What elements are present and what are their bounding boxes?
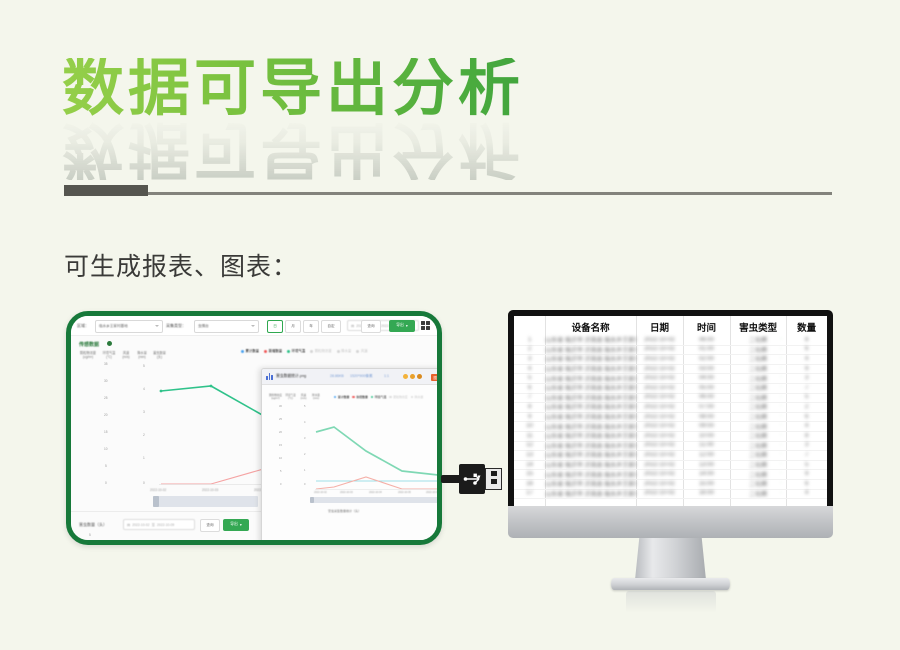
inner-y2-tick-0: 0 [304,483,305,486]
inner-y-tick-15: 15 [279,444,282,447]
zoom-slider-thumb[interactable] [153,496,159,507]
th-quantity: 数量 [786,320,827,334]
td-date: 2022-10-02 [636,442,683,448]
td-date: 2022-10-02 [636,337,683,343]
td-index: 5 [514,375,545,381]
info-dot-icon [107,341,112,346]
th-device: 设备名称 [545,320,636,334]
image-preview-window[interactable]: 害虫数据统计.png 28.86KB 1520*900像素 1:1 图片另存 累… [261,368,437,540]
td-date: 2022-10-02 [636,404,683,410]
td-time: 13:00 [683,462,730,468]
inner-x-tick-3: 2022-10-05 [398,491,411,494]
td-quantity: 9 [786,471,827,477]
td-time: 11:00 [683,442,730,448]
td-date: 2022-10-02 [636,366,683,372]
segment-custom[interactable]: 自定 [321,320,341,333]
row-status-dot: · [780,413,782,419]
x-tick-1: 2022-10-03 [202,488,218,492]
inner-zoom-thumb[interactable] [310,497,314,503]
series-point [210,385,213,388]
td-quantity: 4 [786,356,827,362]
td-date: 2022-10-02 [636,385,683,391]
inner-y-group-0: 颗粒物浓度 (ug/m³) [268,394,283,400]
td-quantity: 6 [786,414,827,420]
section-subtitle: 可生成报表、图表： [64,247,298,283]
td-time: 04:00 [683,375,730,381]
image-preview-titlebar: 害虫数据统计.png 28.86KB 1520*900像素 1:1 图片另存 [262,369,437,385]
td-device: 山东省 临沂市 沂南县 临水乡王家村基地 [545,335,636,344]
y-tick-10: 10 [104,447,108,451]
td-device: 山东省 临沂市 沂南县 临水乡王家村基地 [545,470,636,479]
td-pest-type: 二化螟 [730,383,786,392]
row-status-dot: · [780,355,782,361]
image-ratio[interactable]: 1:1 [384,374,389,378]
window-controls[interactable] [403,374,422,379]
image-dimensions[interactable]: 1520*900像素 [350,374,373,379]
close-dot[interactable] [417,374,422,379]
bottom-date-end: 2022-10-09 [157,523,174,527]
td-quantity: 8 [786,337,827,343]
td-index: 16 [514,481,545,487]
inner-series-temperature [316,427,437,475]
data-table: 设备名称 日期 时间 害虫类型 数量 1山东省 临沂市 沂南县 临水乡王家村基地… [514,316,827,506]
row-status-dot: · [780,346,782,352]
table-row-divider [514,498,827,499]
inner-chart-caption: 害虫采集数量统计（头） [328,509,361,513]
monitor-stand-base [611,578,730,590]
monitor-chin [508,506,833,538]
td-device: 山东省 临沂市 沂南县 临水乡王家村基地 [545,460,636,469]
inner-y-group-2: 风速 (m/s) [298,394,309,400]
td-device: 山东省 临沂市 沂南县 临水乡王家村基地 [545,489,636,498]
td-time: 03:00 [683,366,730,372]
td-quantity: 2 [786,404,827,410]
row-status-dot: · [780,461,782,467]
td-quantity: 3 [786,375,827,381]
td-index: 13 [514,452,545,458]
y-tick-20: 20 [104,413,108,417]
td-quantity: 7 [786,452,827,458]
td-device: 山东省 临沂市 沂南县 临水乡王家村基地 [545,354,636,363]
usb-connector [441,458,503,500]
inner-y2-tick-4: 4 [304,421,305,424]
td-date: 2022-10-02 [636,462,683,468]
export-button[interactable]: 导出 ▾ [389,320,415,332]
td-pest-type: 二化螟 [730,335,786,344]
td-device: 山东省 临沂市 沂南县 临水乡王家村基地 [545,402,636,411]
inner-y-tick-5: 5 [280,470,281,473]
td-quantity: 9 [786,366,827,372]
row-status-dot: · [780,470,782,476]
td-date: 2022-10-02 [636,414,683,420]
td-device: 山东省 临沂市 沂南县 临水乡王家村基地 [545,374,636,383]
row-status-dot: · [780,403,782,409]
td-index: 7 [514,394,545,400]
inner-x-tick-4: 2022-10-06 [426,491,437,494]
td-time: 10:00 [683,433,730,439]
y2-tick-3: 3 [143,410,145,414]
td-pest-type: 二化螟 [730,354,786,363]
td-date: 2022-10-02 [636,375,683,381]
divider-accent [64,185,148,196]
legend-item-5[interactable]: 风速 [356,348,367,353]
td-time: 12:00 [683,452,730,458]
y-tick-25: 25 [104,396,108,400]
y-group-2: 风速 (m/s) [119,351,133,359]
td-quantity: 4 [786,490,827,496]
td-pest-type: 二化螟 [730,422,786,431]
y-tick-30: 30 [104,379,108,383]
bottom-date-separator: 至 [152,522,155,527]
bottom-date-start: 2022-10-02 [132,523,149,527]
bottom-label: 害虫数量（头） [79,522,107,528]
td-pest-type: 二化螟 [730,460,786,469]
y2-tick-4: 4 [143,387,145,391]
td-device: 山东省 临沂市 沂南县 临水乡王家村基地 [545,412,636,421]
th-time: 时间 [683,320,730,334]
page-title: 数据可导出分析 [62,58,852,120]
row-status-dot: · [780,394,782,400]
y2-tick-0: 0 [143,481,145,485]
inner-zoom-slider[interactable] [310,497,437,503]
td-quantity: 8 [786,433,827,439]
area-label: 区域： [77,323,89,329]
inner-y-tick-30: 30 [279,405,282,408]
bottom-y-tick-5: 5 [89,533,91,537]
row-status-dot: · [780,442,782,448]
row-status-dot: · [780,490,782,496]
td-index: 8 [514,404,545,410]
inner-y-group-1: 环境气温 (°C) [284,394,297,400]
td-index: 10 [514,423,545,429]
td-time: 15:00 [683,481,730,487]
x-tick-0: 2022-10-02 [150,488,166,492]
td-index: 15 [514,471,545,477]
td-pest-type: 二化螟 [730,441,786,450]
th-date: 日期 [636,320,683,334]
series-point [160,390,163,393]
image-file-name: 害虫数据统计.png [276,374,306,379]
usb-trident-icon [463,469,483,489]
tablet-toolbar: 区域： 临水乡王家村基地 采集类型： 虫情台 日 月 年 自定 ▤ 2022-1… [71,316,437,336]
td-device: 山东省 临沂市 沂南县 临水乡王家村基地 [545,393,636,402]
td-pest-type: 二化螟 [730,431,786,440]
td-pest-type: 二化螟 [730,393,786,402]
y-tick-5: 5 [105,464,107,468]
inner-y-tick-0: 0 [280,483,281,486]
row-status-dot: · [780,480,782,486]
page-title-reflection: 数据可导出分析 [62,118,524,180]
maximize-dot[interactable] [410,374,415,379]
inner-y2-tick-3: 3 [304,437,305,440]
y2-tick-2: 2 [143,433,145,437]
bottom-date-range[interactable]: ▤ 2022-10-02 至 2022-10-09 [123,519,195,530]
y-group-3: 降水量 (mm) [134,351,150,359]
desktop-monitor: 设备名称 日期 时间 害虫类型 数量 1山东省 临沂市 沂南县 临水乡王家村基地… [508,310,833,600]
td-index: 1 [514,337,545,343]
td-device: 山东省 临沂市 沂南县 临水乡王家村基地 [545,383,636,392]
y-tick-0: 0 [105,481,107,485]
td-index: 17 [514,490,545,496]
type-select[interactable]: 虫情台 [194,320,259,333]
td-index: 9 [514,414,545,420]
td-device: 山东省 临沂市 沂南县 临水乡王家村基地 [545,345,636,354]
td-pest-type: 二化螟 [730,470,786,479]
minimize-dot[interactable] [403,374,408,379]
segment-year[interactable]: 年 [303,320,319,333]
row-status-dot: · [780,365,782,371]
td-device: 山东省 临沂市 沂南县 临水乡王家村基地 [545,450,636,459]
td-date: 2022-10-02 [636,423,683,429]
legend-item-2[interactable]: 环境气温 [287,348,305,353]
td-time: 14:00 [683,471,730,477]
inner-x-tick-2: 2022-10-04 [369,491,382,494]
inner-x-tick-0: 2022-10-02 [314,491,327,494]
inner-y-tick-20: 20 [279,431,282,434]
td-quantity: 7 [786,385,827,391]
td-pest-type: 二化螟 [730,402,786,411]
grid-view-icon[interactable] [421,321,430,330]
bottom-export-label: 导出 [230,522,238,527]
row-status-dot: · [780,422,782,428]
td-time: 06:00 [683,394,730,400]
td-quantity: 5 [786,462,827,468]
type-label: 采集类型： [166,323,186,329]
td-index: 6 [514,385,545,391]
inner-x-tick-1: 2022-10-03 [340,491,353,494]
td-time: 05:00 [683,385,730,391]
y-group-0: 颗粒物浓度 (ug/m³) [77,351,99,359]
row-status-dot: · [780,336,782,342]
legend-item-0[interactable]: 累计数量 [241,348,259,353]
td-time: 08:00 [683,414,730,420]
tablet-device: 区域： 临水乡王家村基地 采集类型： 虫情台 日 月 年 自定 ▤ 2022-1… [66,311,442,545]
table-header-row: 设备名称 日期 时间 害虫类型 数量 [514,320,827,333]
td-device: 山东省 临沂市 沂南县 临水乡王家村基地 [545,364,636,373]
legend-item-1[interactable]: 新增数量 [264,348,282,353]
y-tick-15: 15 [104,430,108,434]
chart-zoom-slider[interactable] [153,496,258,507]
y-group-1: 环境气温 (°C) [100,351,118,359]
td-time: 09:00 [683,423,730,429]
type-select-value: 虫情台 [198,324,209,329]
divider-line [64,192,832,195]
chevron-down-icon: ▾ [240,522,242,527]
td-date: 2022-10-02 [636,452,683,458]
inner-chart-plot [310,399,437,494]
heading-block: 数据可导出分析 数据可导出分析 [62,58,852,178]
td-pest-type: 二化螟 [730,364,786,373]
td-date: 2022-10-02 [636,471,683,477]
td-device: 山东省 临沂市 沂南县 临水乡王家村基地 [545,479,636,488]
panel-title: 传感数据 [79,341,99,348]
legend-item-4[interactable]: 降水量 [337,348,352,353]
td-index: 4 [514,366,545,372]
chevron-down-icon: ▾ [406,323,408,328]
inner-y2-tick-2: 2 [304,453,305,456]
chevron-down-icon [251,325,255,327]
save-image-tag[interactable]: 图片另存 [431,374,437,381]
bottom-query-button[interactable]: 查询 [200,519,220,532]
td-time: 07:00 [683,404,730,410]
inner-y-tick-25: 25 [279,418,282,421]
segment-month[interactable]: 月 [285,320,301,333]
legend-item-3[interactable]: 颗粒物浓度 [310,348,331,353]
calendar-icon: ▤ [127,523,130,527]
monitor-bezel: 设备名称 日期 时间 害虫类型 数量 1山东省 临沂市 沂南县 临水乡王家村基地… [508,310,833,506]
td-pest-type: 二化螟 [730,479,786,488]
export-button-label: 导出 [396,323,404,328]
area-select[interactable]: 临水乡王家村基地 [95,320,163,333]
bottom-export-button[interactable]: 导出 ▾ [223,519,249,531]
row-status-dot: · [780,432,782,438]
monitor-reflection [626,591,716,613]
inner-y2-tick-1: 1 [304,469,305,472]
td-device: 山东省 临沂市 沂南县 临水乡王家村基地 [545,441,636,450]
td-date: 2022-10-02 [636,490,683,496]
chart-legend: 累计数量 新增数量 环境气温 颗粒物浓度 降水量 风速 [241,348,368,353]
td-device: 山东省 临沂市 沂南县 临水乡王家村基地 [545,422,636,431]
usb-metal-tip [485,468,502,490]
td-quantity: 6 [786,346,827,352]
segment-day[interactable]: 日 [267,320,283,333]
th-pest-type: 害虫类型 [730,320,786,334]
query-button[interactable]: 查询 [361,320,381,333]
td-pest-type: 二化螟 [730,489,786,498]
inner-y-tick-10: 10 [279,457,282,460]
td-date: 2022-10-02 [636,481,683,487]
td-pest-type: 二化螟 [730,374,786,383]
monitor-stand-neck [635,538,706,580]
y2-tick-5: 5 [143,364,145,368]
td-quantity: 3 [786,442,827,448]
monitor-screen: 设备名称 日期 时间 害虫类型 数量 1山东省 临沂市 沂南县 临水乡王家村基地… [514,316,827,506]
td-index: 11 [514,433,545,439]
chevron-down-icon [155,325,159,327]
inner-series-new-count [316,477,437,489]
row-status-dot: · [780,451,782,457]
td-time: 02:00 [683,356,730,362]
td-quantity: 6 [786,481,827,487]
td-time: 01:00 [683,346,730,352]
td-time: 06:00 [683,337,730,343]
y-tick-35: 35 [104,362,108,366]
row-status-dot: · [780,384,782,390]
row-status-dot: · [780,374,782,380]
td-index: 3 [514,356,545,362]
tablet-screen: 区域： 临水乡王家村基地 采集类型： 虫情台 日 月 年 自定 ▤ 2022-1… [71,316,437,540]
y2-tick-1: 1 [143,456,145,460]
td-date: 2022-10-02 [636,356,683,362]
td-date: 2022-10-02 [636,394,683,400]
td-pest-type: 二化螟 [730,345,786,354]
td-index: 2 [514,346,545,352]
td-quantity: 4 [786,423,827,429]
section-divider [64,185,832,196]
td-device: 山东省 临沂市 沂南县 临水乡王家村基地 [545,431,636,440]
td-index: 14 [514,462,545,468]
area-select-value: 临水乡王家村基地 [99,324,128,329]
image-size-link[interactable]: 28.86KB [330,374,344,378]
inner-y2-tick-5: 5 [304,405,305,408]
td-quantity: 5 [786,394,827,400]
td-pest-type: 二化螟 [730,450,786,459]
td-date: 2022-10-02 [636,346,683,352]
td-time: 16:00 [683,490,730,496]
td-pest-type: 二化螟 [730,412,786,421]
td-index: 12 [514,442,545,448]
chart-app-icon [266,373,273,380]
td-date: 2022-10-02 [636,433,683,439]
